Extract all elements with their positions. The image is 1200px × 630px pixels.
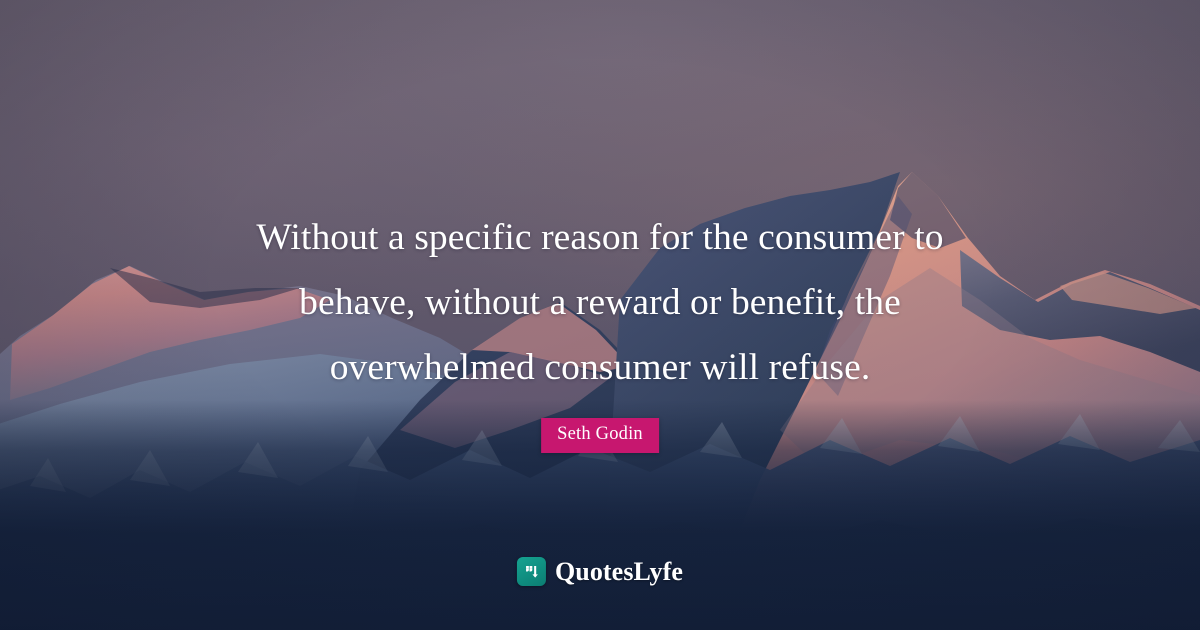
quoteslyfe-logo[interactable]: QuotesLyfe — [517, 557, 683, 586]
quote-text: Without a specific reason for the consum… — [0, 205, 1200, 400]
author-badge[interactable]: Seth Godin — [541, 418, 659, 453]
card-content: Without a specific reason for the consum… — [0, 0, 1200, 630]
quote-line-1: Without a specific reason for the consum… — [130, 205, 1070, 270]
quote-card: Without a specific reason for the consum… — [0, 0, 1200, 630]
quotation-mark-icon — [517, 557, 546, 586]
quote-line-2: behave, without a reward or benefit, the — [130, 270, 1070, 335]
logo-wordmark: QuotesLyfe — [555, 559, 683, 585]
quote-line-3: overwhelmed consumer will refuse. — [130, 335, 1070, 400]
